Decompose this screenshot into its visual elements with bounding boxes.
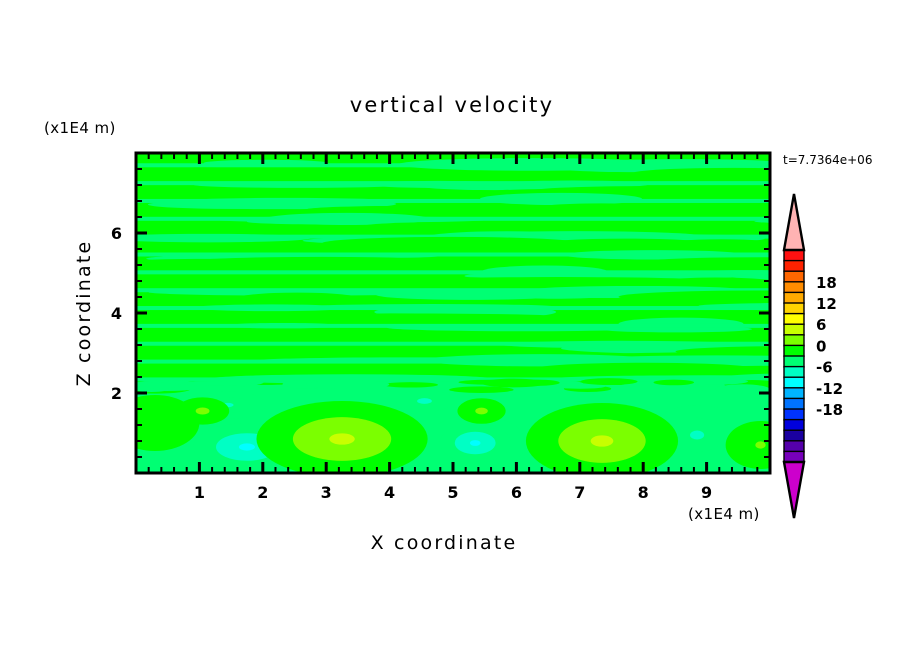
x-tick-label: 5 — [447, 483, 458, 502]
colorbar-tick-label: -18 — [816, 401, 843, 419]
x-tick-label: 6 — [511, 483, 522, 502]
x-tick-label: 9 — [701, 483, 712, 502]
colorbar-band — [784, 324, 804, 335]
colorbar-band — [784, 292, 804, 303]
colorbar-tick-label: 18 — [816, 274, 837, 292]
y-tick-label: 4 — [111, 304, 122, 323]
x-tick-label: 8 — [638, 483, 649, 502]
colorbar-band — [784, 430, 804, 441]
colorbar-bands — [784, 250, 804, 462]
colorbar-tick-label: -6 — [816, 359, 833, 377]
colorbar-band — [784, 335, 804, 346]
colorbar-tick-label: 0 — [816, 337, 826, 355]
colorbar-band — [784, 451, 804, 462]
colorbar-band — [784, 367, 804, 378]
x-tick-label: 4 — [384, 483, 395, 502]
contour-plot-figure: vertical velocity (x1E4 m) t=7.7364e+06 … — [0, 0, 904, 654]
x-tick-label: 3 — [321, 483, 332, 502]
y-tick-label: 2 — [111, 384, 122, 403]
colorbar-band — [784, 345, 804, 356]
colorbar-band — [784, 356, 804, 367]
y-axis-unit-label: (x1E4 m) — [44, 119, 116, 137]
colorbar-band — [784, 441, 804, 452]
colorbar-tick-label: 12 — [816, 295, 837, 313]
x-axis-title: X coordinate — [371, 532, 518, 554]
y-axis-title: Z coordinate — [73, 240, 95, 387]
colorbar-band — [784, 420, 804, 431]
colorbar-tick-label: -12 — [816, 380, 843, 398]
colorbar-band — [784, 271, 804, 282]
colorbar-band — [784, 398, 804, 409]
colorbar-band — [784, 314, 804, 325]
colorbar-band — [784, 388, 804, 399]
colorbar-band — [784, 282, 804, 293]
colorbar-tick-label: 6 — [816, 316, 826, 334]
field-lower-plumes — [101, 378, 795, 479]
y-tick-label: 6 — [111, 224, 122, 243]
colorbar-band — [784, 250, 804, 261]
x-tick-label: 2 — [257, 483, 268, 502]
page-title: vertical velocity — [350, 93, 554, 117]
colorbar-band — [784, 261, 804, 272]
time-annotation: t=7.7364e+06 — [783, 153, 872, 167]
colorbar-band — [784, 303, 804, 314]
x-tick-label: 1 — [194, 483, 205, 502]
colorbar-band — [784, 377, 804, 388]
x-axis-unit-label: (x1E4 m) — [688, 505, 760, 523]
x-tick-label: 7 — [574, 483, 585, 502]
colorbar-band — [784, 409, 804, 420]
